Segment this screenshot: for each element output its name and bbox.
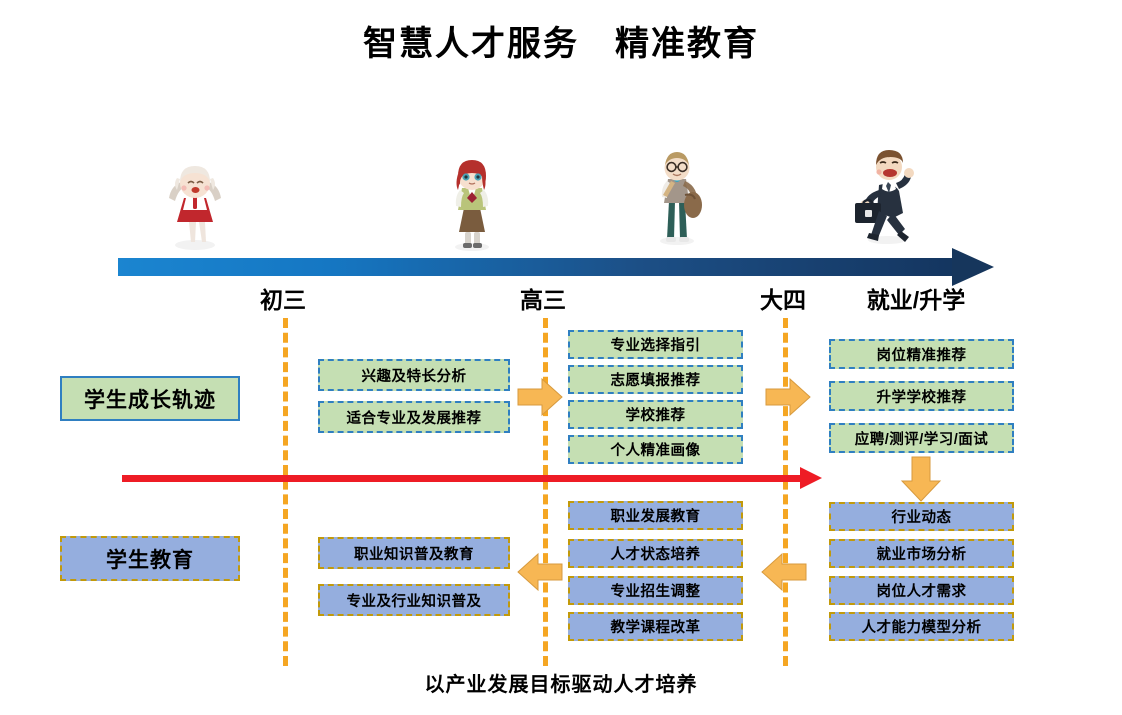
growth-item-r1c2-4[interactable]: 个人精准画像 — [568, 435, 743, 464]
growth-item-r1c1-1[interactable]: 兴趣及特长分析 — [318, 359, 510, 391]
slide-canvas: 智慧人才服务 精准教育 — [0, 0, 1122, 715]
junior-high-student-icon — [151, 152, 239, 252]
education-item-r2c3-1[interactable]: 行业动态 — [829, 502, 1014, 531]
education-item-r2c1-2[interactable]: 专业及行业知识普及 — [318, 584, 510, 616]
growth-item-r1c3-1[interactable]: 岗位精准推荐 — [829, 339, 1014, 369]
education-item-r2c1-1[interactable]: 职业知识普及教育 — [318, 537, 510, 569]
timeline-label-4: 就业/升学 — [867, 281, 965, 315]
growth-arrow-col2-to-col3 — [764, 373, 812, 421]
timeline-label-3: 大四 — [760, 281, 806, 315]
working-professional-icon — [843, 145, 931, 245]
education-item-r2c2-3[interactable]: 专业招生调整 — [568, 576, 743, 605]
senior-high-student-icon — [428, 152, 516, 252]
row-label-student-education: 学生教育 — [60, 536, 240, 581]
growth-item-r1c2-3[interactable]: 学校推荐 — [568, 400, 743, 429]
persona-junior-high-student — [151, 152, 239, 252]
persona-senior-high-student — [428, 152, 516, 252]
stage-divider-1 — [283, 318, 288, 666]
industry-feedback-arrowhead-icon — [800, 467, 822, 489]
growth-to-education-arrow — [898, 455, 944, 503]
growth-item-r1c2-2[interactable]: 志愿填报推荐 — [568, 365, 743, 394]
education-arrow-col3-to-col2 — [760, 548, 808, 596]
timeline-label-2: 高三 — [520, 281, 566, 315]
persona-university-student — [633, 145, 721, 245]
stage-divider-3 — [783, 318, 788, 666]
timeline-label-1: 初三 — [260, 281, 306, 315]
row-label-student-growth: 学生成长轨迹 — [60, 376, 240, 421]
education-arrow-col2-to-col1 — [516, 548, 564, 596]
page-title: 智慧人才服务 精准教育 — [0, 16, 1122, 65]
education-item-r2c2-2[interactable]: 人才状态培养 — [568, 539, 743, 568]
growth-item-r1c2-1[interactable]: 专业选择指引 — [568, 330, 743, 359]
university-student-icon — [633, 145, 721, 245]
persona-working-professional — [843, 145, 931, 245]
growth-arrow-col1-to-col2 — [516, 373, 564, 421]
stage-divider-2 — [543, 318, 548, 666]
education-item-r2c2-4[interactable]: 教学课程改革 — [568, 612, 743, 641]
growth-item-r1c3-3[interactable]: 应聘/测评/学习/面试 — [829, 423, 1014, 453]
education-item-r2c3-3[interactable]: 岗位人才需求 — [829, 576, 1014, 605]
education-item-r2c3-4[interactable]: 人才能力模型分析 — [829, 612, 1014, 641]
footer-caption: 以产业发展目标驱动人才培养 — [0, 668, 1122, 697]
growth-item-r1c3-2[interactable]: 升学学校推荐 — [829, 381, 1014, 411]
industry-feedback-arrow — [122, 475, 802, 482]
education-item-r2c3-2[interactable]: 就业市场分析 — [829, 539, 1014, 568]
growth-item-r1c1-2[interactable]: 适合专业及发展推荐 — [318, 401, 510, 433]
education-item-r2c2-1[interactable]: 职业发展教育 — [568, 501, 743, 530]
timeline-bar — [118, 258, 958, 276]
